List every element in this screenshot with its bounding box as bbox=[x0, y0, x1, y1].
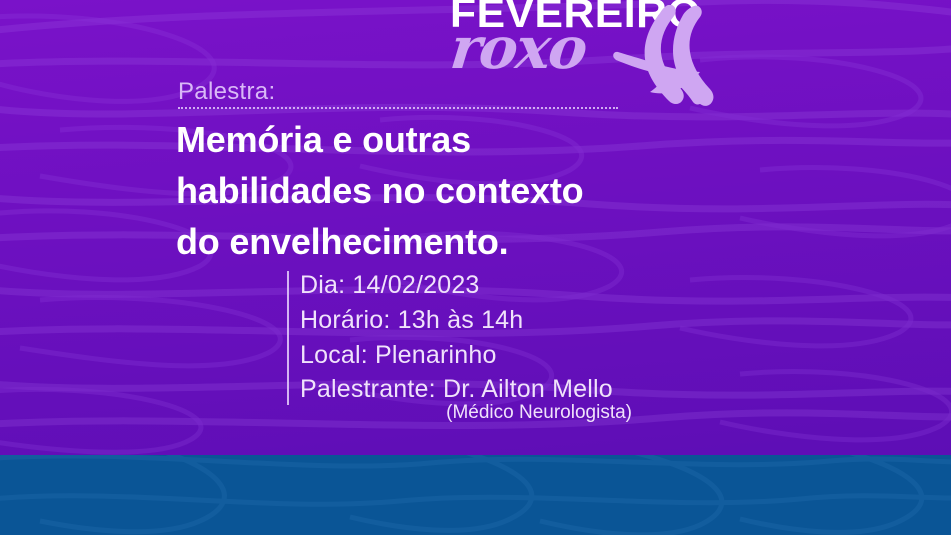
title-line-1: Memória e outras bbox=[176, 114, 736, 165]
campaign-lockup: FEVEREIRO roxo bbox=[448, 0, 698, 103]
event-details-list: Dia: 14/02/2023 Horário: 13h às 14h Loca… bbox=[300, 268, 720, 407]
footer-scribble-pattern bbox=[0, 455, 951, 535]
eyebrow-label: Palestra: bbox=[178, 78, 275, 106]
eyebrow-divider bbox=[178, 107, 618, 109]
details-accent-bar bbox=[287, 271, 289, 405]
awareness-ribbon-icon bbox=[613, 5, 718, 110]
poster-canvas: FEVEREIRO roxo Palestra: Memória e outra… bbox=[0, 0, 951, 535]
title-line-3: do envelhecimento. bbox=[176, 216, 736, 267]
speaker-credential: (Médico Neurologista) bbox=[300, 402, 632, 424]
page-title: Memória e outras habilidades no contexto… bbox=[176, 114, 736, 267]
footer-band: DIRETORIA DE PROMOÇÃO À SAÚDE ALBA ASSEM… bbox=[0, 455, 951, 535]
campaign-color-word: roxo bbox=[448, 19, 589, 77]
event-time: Horário: 13h às 14h bbox=[300, 303, 720, 338]
event-location: Local: Plenarinho bbox=[300, 338, 720, 373]
event-date: Dia: 14/02/2023 bbox=[300, 268, 720, 303]
title-line-2: habilidades no contexto bbox=[176, 165, 736, 216]
